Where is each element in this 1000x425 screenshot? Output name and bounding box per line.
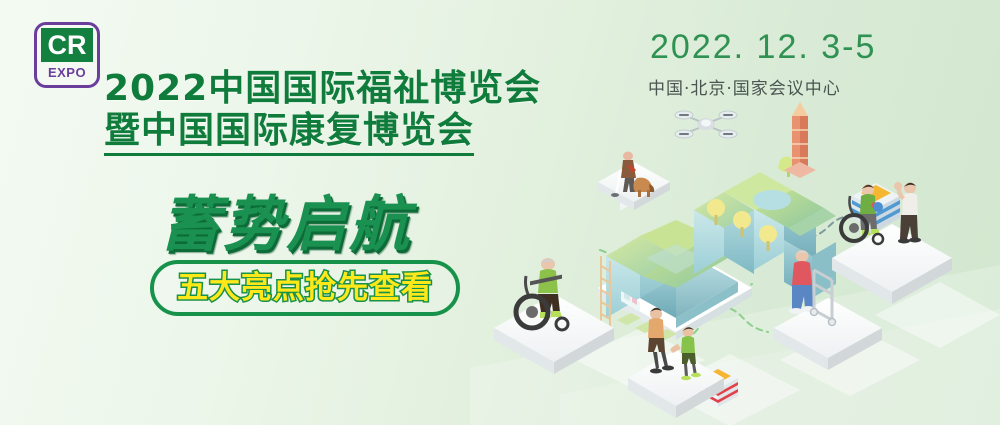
- logo-mark-text: CR: [41, 28, 93, 62]
- logo-sub-text: EXPO: [48, 65, 86, 81]
- slogan-text: 蓄势启航: [160, 176, 412, 263]
- event-banner: CR EXPO 2022中国国际福祉博览会 暨中国国际康复博览会 蓄势启航 五大…: [0, 0, 1000, 425]
- headline-line-2: 暨中国国际康复博览会: [104, 110, 474, 156]
- cta-button-label: 五大亮点抢先查看: [177, 271, 433, 305]
- headline: 2022中国国际福祉博览会 暨中国国际康复博览会: [104, 68, 544, 156]
- cr-expo-logo[interactable]: CR EXPO: [34, 22, 100, 88]
- platform-guide-dog: [598, 152, 670, 211]
- headline-line-1: 2022中国国际福祉博览会: [104, 68, 544, 110]
- cta-button[interactable]: 五大亮点抢先查看: [150, 260, 460, 316]
- drone: [675, 111, 737, 138]
- isometric-illustration: [480, 60, 1000, 425]
